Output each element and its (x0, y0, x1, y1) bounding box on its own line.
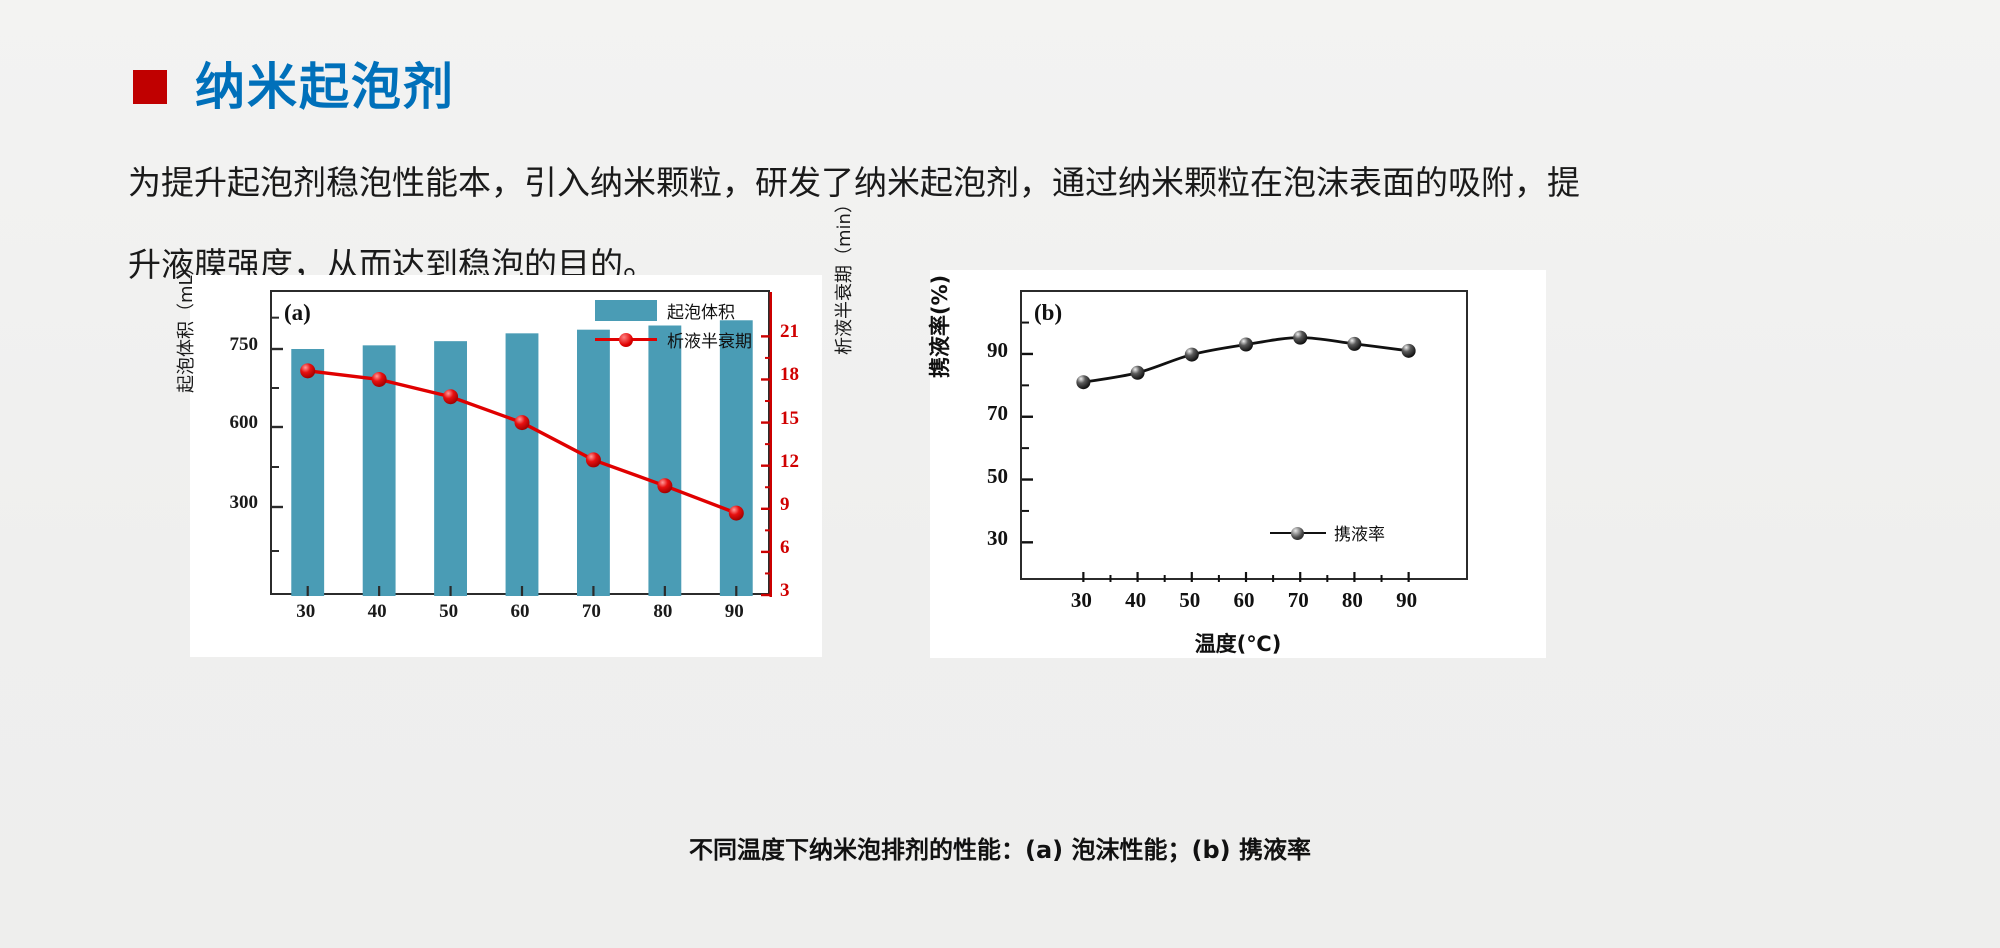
chart-a-panel-tag: (a) (284, 300, 311, 326)
chart-b-x-tick-label: 70 (1273, 588, 1323, 613)
chart-a-y2-tick-label: 3 (780, 580, 830, 602)
chart-a-x-tick-label: 40 (352, 601, 402, 623)
chart-a-x-tick-label: 50 (424, 601, 474, 623)
chart-b-svg (1022, 292, 1470, 582)
chart-a-y2-tick-label: 9 (780, 494, 830, 516)
chart-a-y-tick-label: 300 (198, 492, 258, 514)
chart-b-x-tick-label: 50 (1165, 588, 1215, 613)
chart-a-panel: 起泡体积（mL） 析液半衰期（min） (a) 起泡体积 析液半衰期 30 (190, 275, 822, 657)
chart-b-y-tick-label: 30 (953, 526, 1008, 551)
chart-b-x-tick-label: 80 (1327, 588, 1377, 613)
chart-a-legend-item-bar: 起泡体积 (595, 298, 752, 323)
chart-b-legend-label: 携液率 (1334, 520, 1385, 545)
chart-b-y-tick-label: 70 (953, 401, 1008, 426)
chart-b-y-axis-label: 携液率(%) (924, 275, 954, 378)
chart-a-y2-tick-label: 12 (780, 451, 830, 473)
body-line-1: 为提升起泡剂稳泡性能本，引入纳米颗粒，研发了纳米起泡剂，通过纳米颗粒在泡沫表面的… (128, 142, 1873, 224)
chart-a-y2-tick-label: 15 (780, 408, 830, 430)
chart-a-legend-item-line: 析液半衰期 (595, 327, 752, 352)
page-title-text: 纳米起泡剂 (195, 62, 455, 112)
chart-b-x-axis-label: 温度(℃) (930, 628, 1546, 658)
chart-b-x-tick-label: 90 (1382, 588, 1432, 613)
slide: 纳米起泡剂 为提升起泡剂稳泡性能本，引入纳米颗粒，研发了纳米起泡剂，通过纳米颗粒… (0, 0, 2000, 948)
chart-b-y-tick-label: 50 (953, 464, 1008, 489)
chart-a-plot-area: (a) 起泡体积 析液半衰期 (270, 290, 770, 595)
figure-caption: 不同温度下纳米泡排剂的性能：(a) 泡沫性能；(b) 携液率 (0, 830, 2000, 865)
chart-a-y-tick-label: 750 (198, 334, 258, 356)
chart-a-x-tick-label: 80 (638, 601, 688, 623)
chart-b-panel-tag: (b) (1034, 300, 1062, 326)
figure-group: 起泡体积（mL） 析液半衰期（min） (a) 起泡体积 析液半衰期 30 (190, 275, 1790, 695)
chart-a-x-tick-label: 90 (709, 601, 759, 623)
chart-b-panel: 携液率(%) 温度(℃) (b) 携液率 30507090 3040506070… (930, 270, 1546, 658)
chart-a-y2-axis-label: 析液半衰期（min） (830, 195, 856, 355)
chart-a-y2-tick-label: 18 (780, 364, 830, 386)
chart-b-x-tick-label: 60 (1219, 588, 1269, 613)
chart-a-x-tick-label: 60 (495, 601, 545, 623)
bar-swatch-icon (595, 300, 657, 321)
chart-a-x-tick-label: 30 (281, 601, 331, 623)
chart-a-y-axis-label: 起泡体积（mL） (172, 257, 198, 393)
chart-b-y-tick-label: 90 (953, 338, 1008, 363)
chart-a-y2-tick-label: 21 (780, 321, 830, 343)
chart-b-legend: 携液率 (1270, 520, 1385, 545)
page-title: 纳米起泡剂 (133, 62, 455, 112)
chart-a-legend: 起泡体积 析液半衰期 (595, 298, 752, 352)
bullet-square-icon (133, 70, 167, 104)
chart-a-legend-label-bar: 起泡体积 (667, 298, 735, 323)
line-marker-swatch-icon (595, 329, 657, 350)
line-marker-swatch-icon (1270, 525, 1326, 541)
chart-b-x-tick-label: 40 (1111, 588, 1161, 613)
chart-a-x-tick-label: 70 (566, 601, 616, 623)
chart-a-legend-label-line: 析液半衰期 (667, 327, 752, 352)
chart-b-plot-area: (b) 携液率 (1020, 290, 1468, 580)
chart-a-y-tick-label: 600 (198, 412, 258, 434)
chart-a-y2-tick-label: 6 (780, 537, 830, 559)
chart-b-x-tick-label: 30 (1056, 588, 1106, 613)
